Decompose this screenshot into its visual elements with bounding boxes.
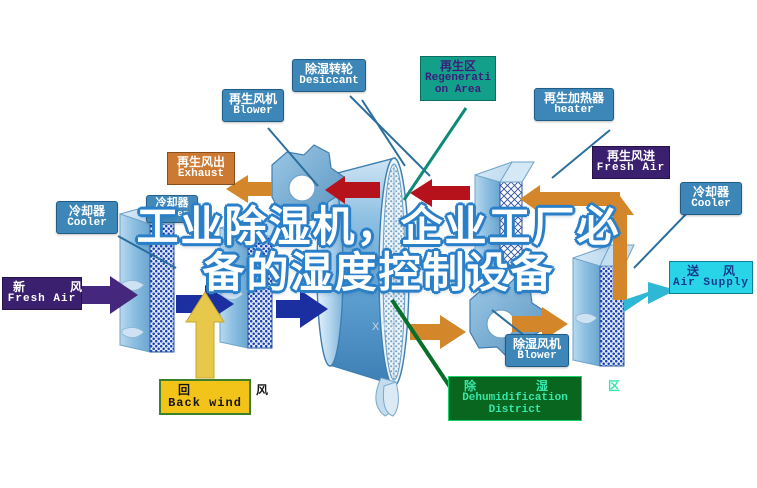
label-dehumidification-blower: 除湿风机 Blower [505,334,569,367]
label-regeneration-fresh-air-en: Fresh Air [596,163,666,175]
label-cooler-left-en: Cooler [60,218,114,230]
label-regeneration-area: 再生区 Regenerati on Area [420,56,496,101]
arrow-dry-air-1 [410,315,466,349]
label-regeneration-area-cn: 再生区 [424,60,492,73]
label-cooler-mid-en: Cooler [149,210,195,220]
label-cooler-right-en: Cooler [684,199,738,211]
label-fresh-air-en: Fresh Air [6,294,78,306]
label-cooler-right: 冷却器 Cooler [680,182,742,215]
label-dehumidification-blower-cn: 除湿风机 [509,338,565,351]
mid-cooler-unit [220,218,278,348]
label-regeneration-heater: 再生加热器 heater [534,88,614,121]
regeneration-heater-unit [475,162,534,268]
label-dehumidification-district: 除 湿 区 Dehumidification District [448,376,582,421]
label-back-wind-cn: 回 风 [164,384,246,397]
diagram-artwork: XTY [0,0,757,488]
arrow-regen-hot-right [410,179,470,207]
dehumidifier-diagram: XTY 除湿转轮 Desiccant 再生风机 Blower 再生风出 Exha… [0,0,757,488]
left-cooler-unit [120,203,184,352]
label-back-wind-en: Back wind [164,397,246,410]
label-cooler-mid: 冷却器 Cooler [146,195,198,223]
label-cooler-left: 冷却器 Cooler [56,201,118,234]
label-regeneration-blower-en: Blower [226,106,280,118]
label-regeneration-exhaust-en: Exhaust [171,169,231,181]
label-regeneration-exhaust: 再生风出 Exhaust [167,152,235,185]
label-air-supply: 送 风 Air Supply [669,261,753,294]
label-dehumidification-district-cn: 除 湿 区 [452,380,578,393]
label-cooler-left-cn: 冷却器 [60,205,114,218]
label-regeneration-blower: 再生风机 Blower [222,89,284,122]
label-regeneration-area-en2: on Area [424,85,492,97]
label-regeneration-blower-cn: 再生风机 [226,93,280,106]
label-air-supply-en: Air Supply [673,278,749,290]
label-fresh-air: 新 风 Fresh Air [2,277,82,310]
label-regeneration-fresh-air: 再生风进 Fresh Air [592,146,670,179]
label-desiccant-rotor-en: Desiccant [296,76,362,88]
label-dehumidification-district-en2: District [452,405,578,417]
label-regeneration-exhaust-cn: 再生风出 [171,156,231,169]
label-desiccant-rotor-cn: 除湿转轮 [296,63,362,76]
label-desiccant-rotor: 除湿转轮 Desiccant [292,59,366,92]
svg-text:XTY: XTY [372,321,399,333]
arrow-regen-fresh-horizontal [520,185,620,213]
label-back-wind: 回 风 Back wind [159,379,251,415]
label-regeneration-heater-en: heater [538,105,610,117]
label-fresh-air-cn: 新 风 [6,281,78,294]
label-cooler-right-cn: 冷却器 [684,186,738,199]
label-air-supply-cn: 送 风 [673,265,749,278]
label-dehumidification-blower-en: Blower [509,351,565,363]
label-regeneration-heater-cn: 再生加热器 [538,92,610,105]
label-regeneration-fresh-air-cn: 再生风进 [596,150,666,163]
